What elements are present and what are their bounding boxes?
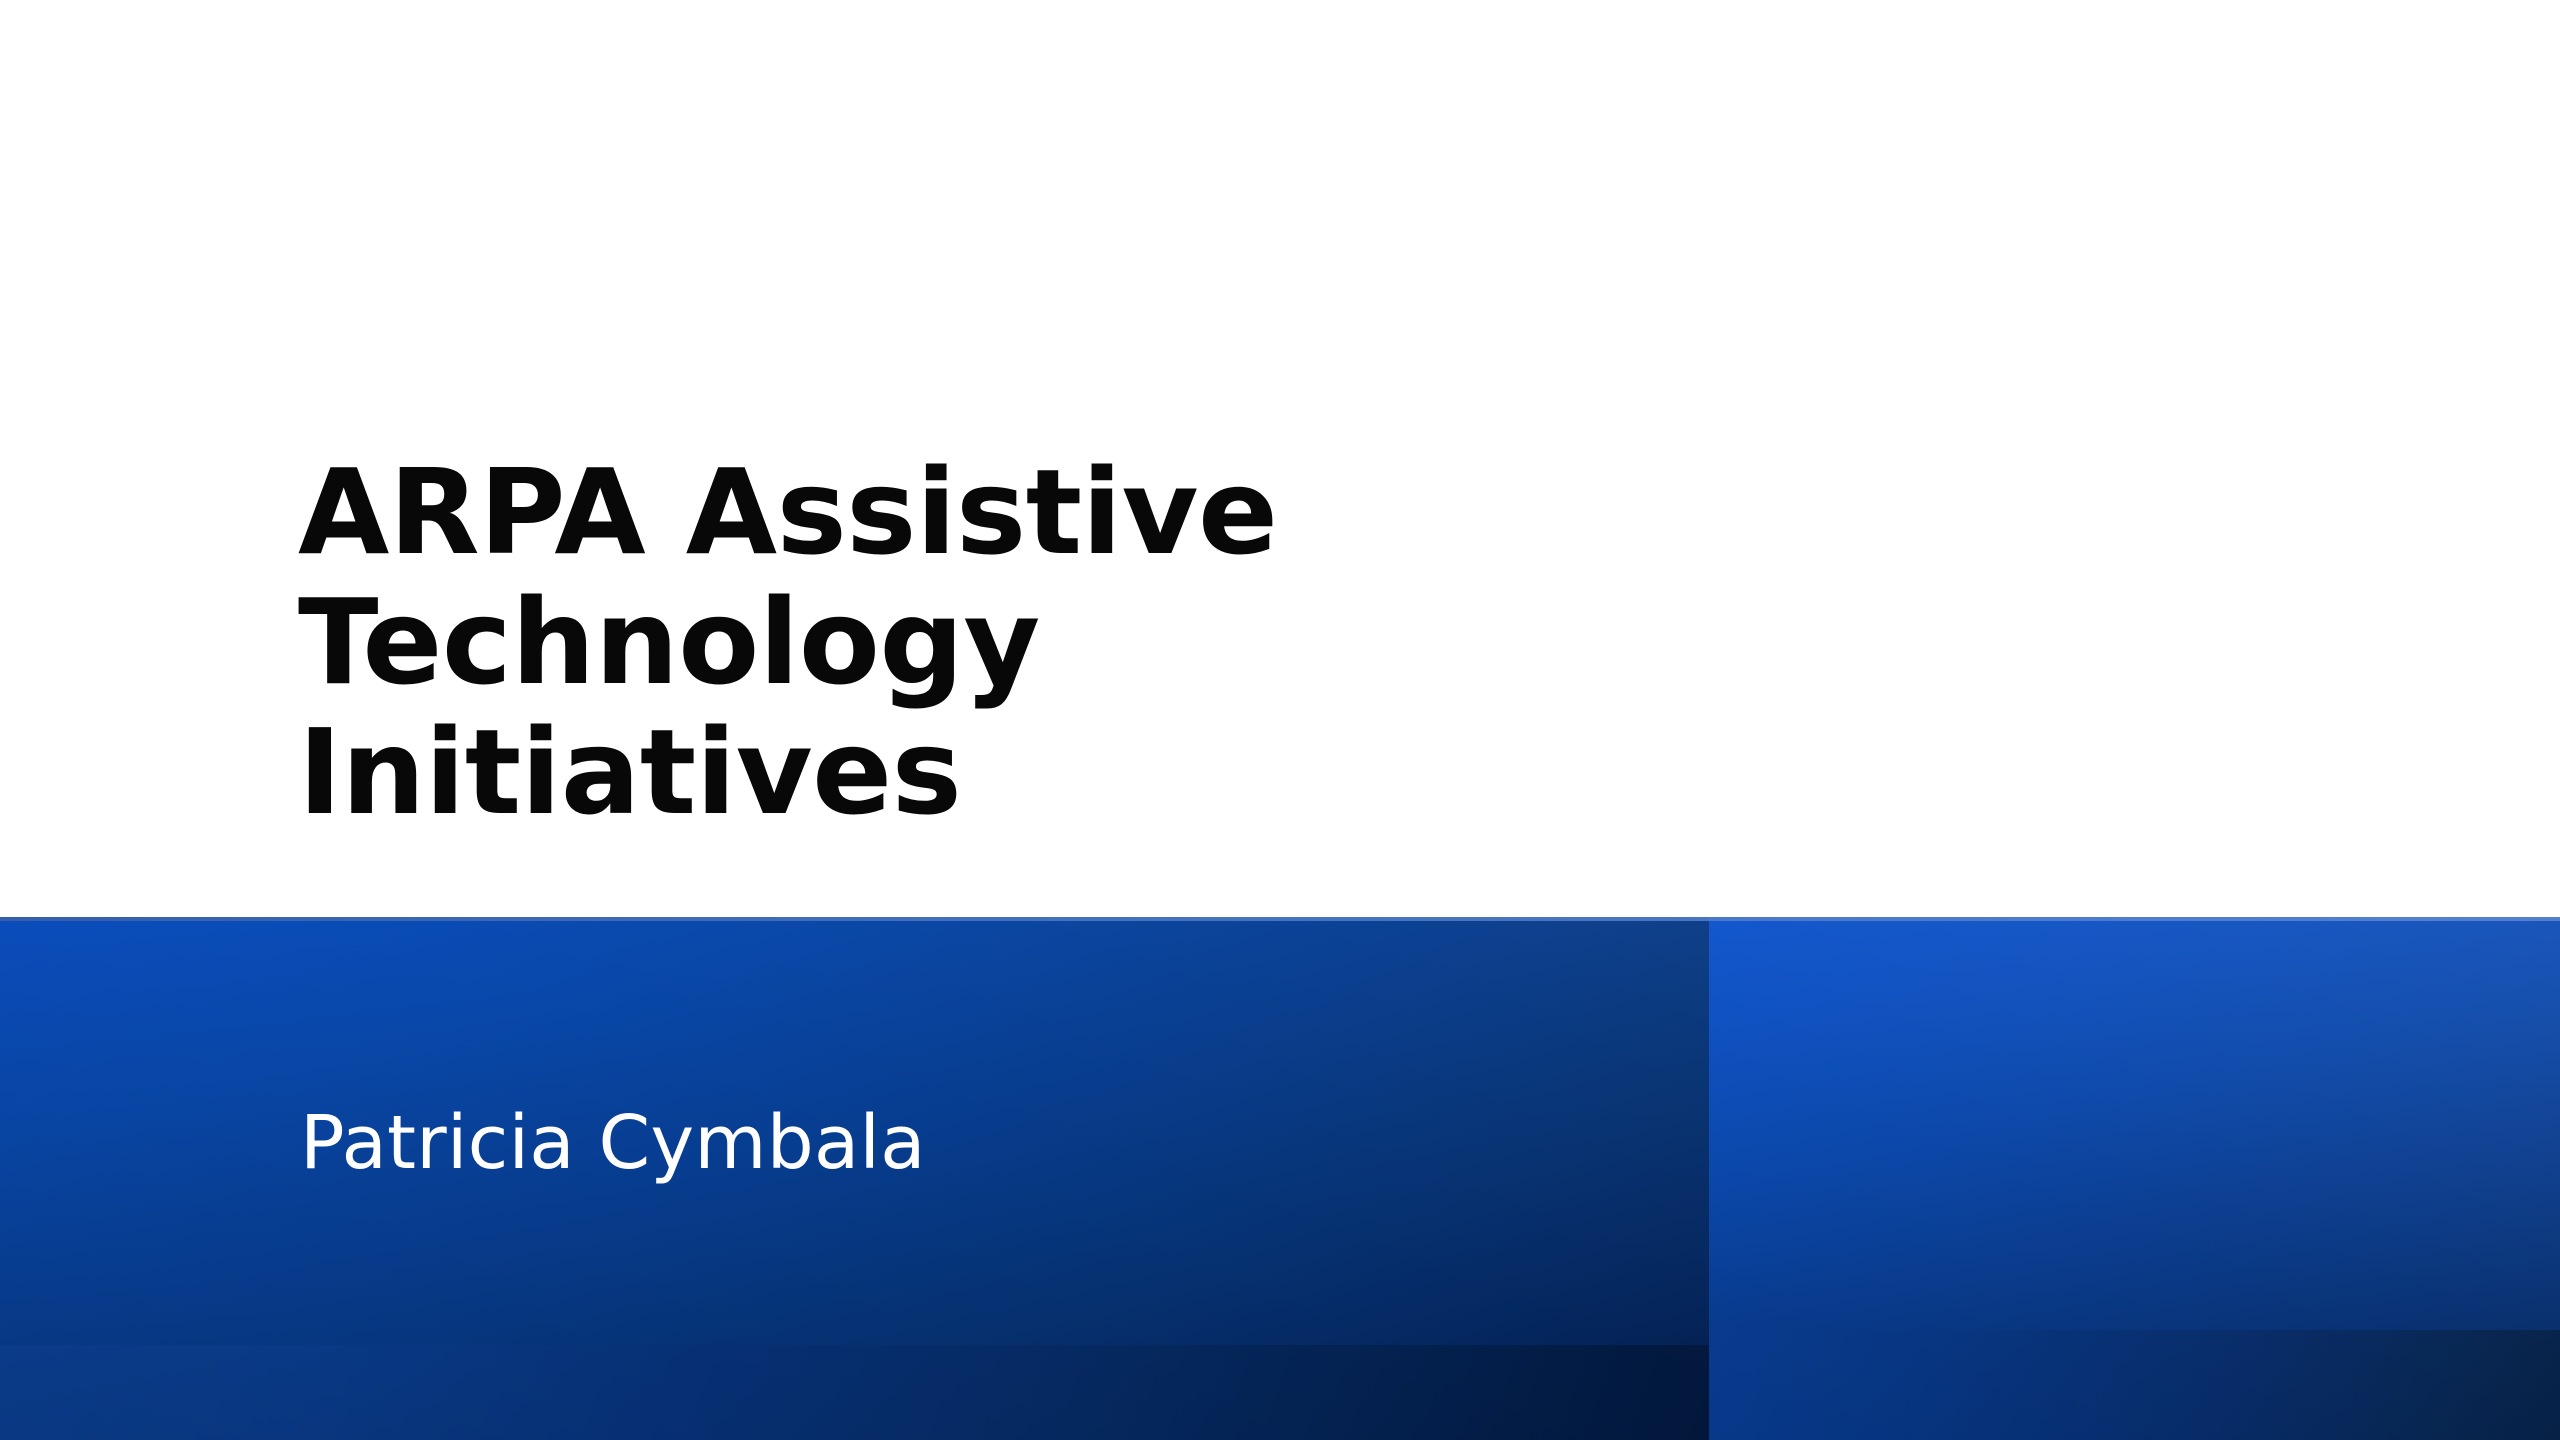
presenter-name: Patricia Cymbala: [300, 1097, 926, 1189]
title-slide: ARPA Assistive Technology Initiatives Pa…: [0, 0, 2560, 1440]
band-panel-left-bottom-strip: [0, 1345, 1709, 1440]
title-area: ARPA Assistive Technology Initiatives: [0, 0, 2560, 917]
page-title: ARPA Assistive Technology Initiatives: [298, 447, 1998, 837]
band-top-hairline: [0, 917, 2560, 921]
band-panel-right-bottom-strip: [1709, 1330, 2560, 1440]
